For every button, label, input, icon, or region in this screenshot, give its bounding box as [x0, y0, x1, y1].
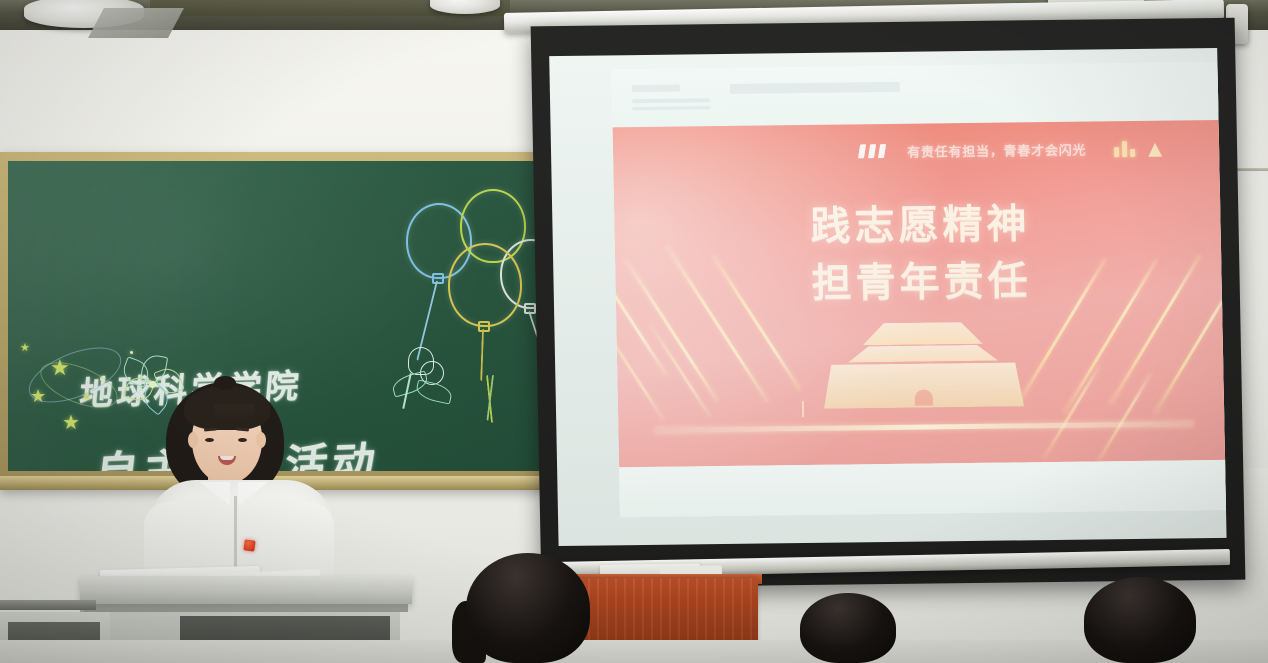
side-cabinet-rail: [0, 600, 96, 610]
slide-content: 有责任有担当，青春才会闪光 践志愿精神 担青年责任: [613, 120, 1227, 467]
seated-student-head: [466, 553, 590, 663]
slide-top-margin: [611, 62, 1224, 127]
slide-title-line1: 践志愿精神: [614, 194, 1227, 258]
projector-mount: [88, 8, 184, 38]
balloon-yellow-icon: [448, 243, 522, 327]
party-emblem-pin-icon: [243, 539, 255, 551]
slide-title-line2: 担青年责任: [615, 251, 1226, 315]
flagpole-icon: [801, 401, 803, 417]
tiananmen-gate-illustration: [817, 321, 1029, 409]
sparkle-dot: [130, 351, 133, 354]
rose-chalk-icon: [386, 347, 466, 417]
podium-surface: [80, 576, 412, 604]
eye-left: [205, 438, 214, 442]
slide-header: 有责任有担当，青春才会闪光: [613, 134, 1225, 167]
star-icon: ★: [62, 413, 80, 433]
header-bars-icon: [859, 144, 885, 158]
ear-right: [256, 432, 266, 448]
slide-header-text: 有责任有担当，青春才会闪光: [907, 139, 1086, 160]
hair-bun: [214, 376, 236, 390]
projection-screen-surface: 有责任有担当，青春才会闪光 践志愿精神 担青年责任: [549, 48, 1226, 546]
hair-fringe: [184, 386, 270, 430]
ear-left: [188, 432, 198, 448]
slide-title: 践志愿精神 担青年责任: [614, 194, 1227, 315]
star-icon: ★: [20, 343, 30, 354]
classroom-scene: 地球科学学院 自主讲坛活动 ★ ★ ★ ★ ★: [0, 0, 1268, 663]
projection-screen-frame: 有责任有担当，青春才会闪光 践志愿精神 担青年责任: [531, 18, 1246, 588]
eye-right: [238, 438, 247, 442]
balloon-string: [480, 329, 486, 381]
tiananmen-logo-icon: [1114, 139, 1162, 158]
seated-student-head: [1084, 577, 1196, 663]
floor: [0, 640, 1268, 663]
slide-bottom-margin: [619, 460, 1226, 517]
wall-line-decoration: [655, 421, 1194, 433]
ray-decoration: [649, 323, 711, 417]
ray-decoration: [1096, 372, 1152, 463]
seated-student-head: [800, 593, 896, 663]
ray-decoration: [1042, 365, 1101, 460]
projected-slide: 有责任有担当，青春才会闪光 践志愿精神 担青年责任: [611, 62, 1226, 517]
